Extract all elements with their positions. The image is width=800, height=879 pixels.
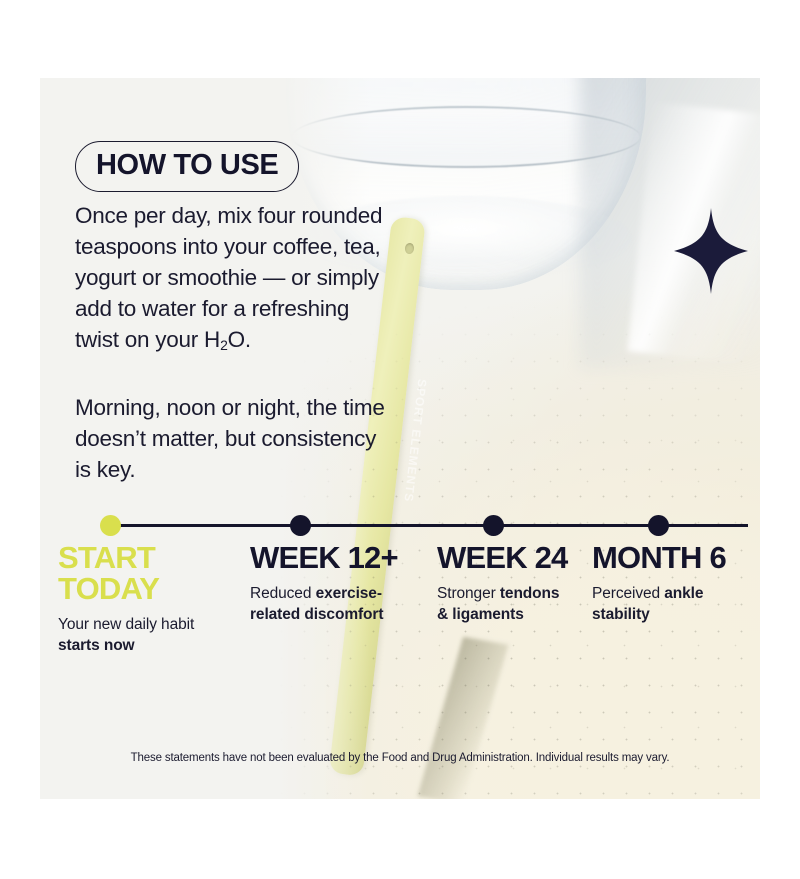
milestone-week-24-description: Stronger tendons & ligaments: [437, 583, 567, 625]
milestone-start-description-plain: Your new daily habit: [58, 616, 194, 633]
milestone-start-title: START TODAY: [58, 542, 238, 604]
milestone-dot-week-12: [290, 515, 311, 536]
milestone-start: START TODAY Your new daily habit starts …: [58, 542, 238, 656]
benefits-timeline: START TODAY Your new daily habit starts …: [40, 78, 760, 799]
milestone-week-12-description-plain: Reduced: [250, 585, 316, 602]
milestone-dot-start: [100, 515, 121, 536]
milestone-week-24-title: WEEK 24: [437, 542, 567, 573]
milestone-start-description: Your new daily habit starts now: [58, 614, 238, 656]
milestone-dot-month-6: [648, 515, 669, 536]
milestone-week-12-description: Reduced exercise-related discomfort: [250, 583, 425, 625]
milestone-week-24-description-plain: Stronger: [437, 585, 500, 602]
milestone-week-24: WEEK 24 Stronger tendons & ligaments: [437, 542, 567, 625]
fda-disclaimer: These statements have not been evaluated…: [40, 752, 760, 764]
milestone-month-6-description: Perceived ankle stability: [592, 583, 742, 625]
milestone-week-12: WEEK 12+ Reduced exercise-related discom…: [250, 542, 425, 625]
milestone-month-6: MONTH 6 Perceived ankle stability: [592, 542, 742, 625]
card-content: HOW TO USE Once per day, mix four rounde…: [40, 78, 760, 799]
how-to-use-card: SPORT ELEMENTS HOW TO USE Once per day, …: [40, 78, 760, 799]
milestone-month-6-title: MONTH 6: [592, 542, 742, 573]
milestone-start-description-bold: starts now: [58, 637, 135, 654]
milestone-month-6-description-plain: Perceived: [592, 585, 664, 602]
milestone-dot-week-24: [483, 515, 504, 536]
milestone-week-12-title: WEEK 12+: [250, 542, 425, 573]
